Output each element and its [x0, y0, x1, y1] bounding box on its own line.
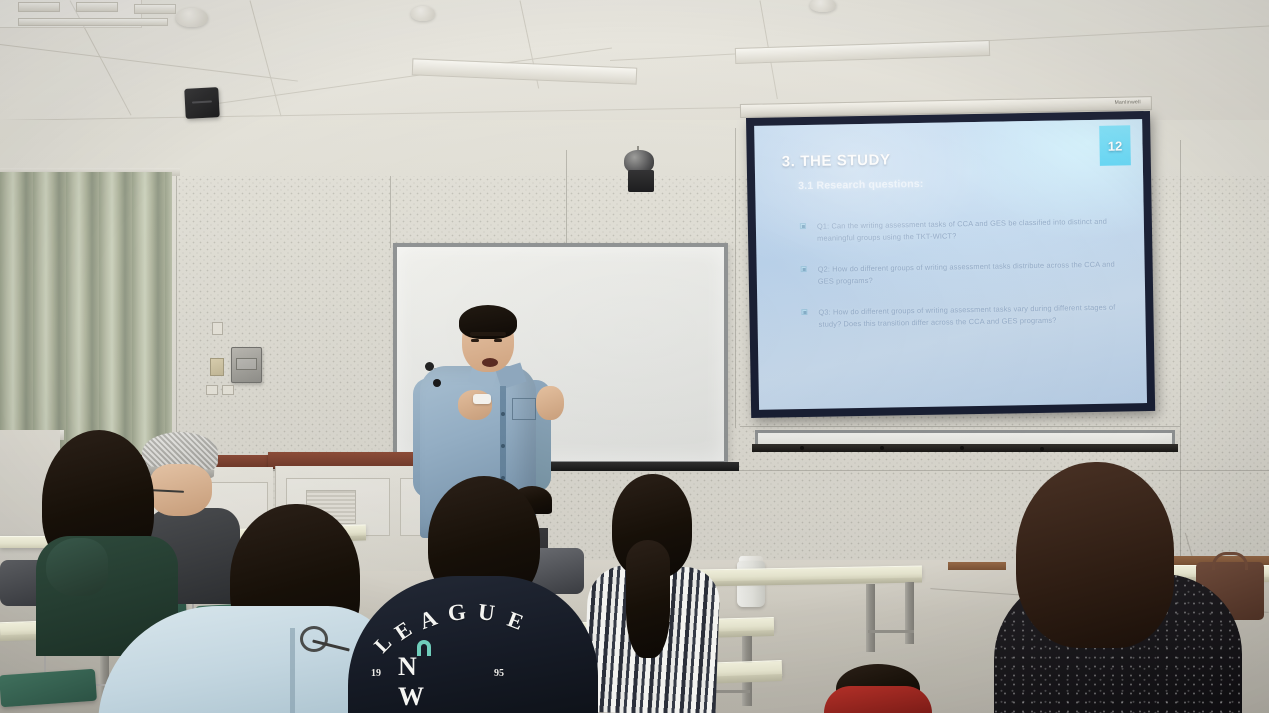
jacket-center-text: N W	[398, 652, 428, 712]
bag-handle	[1212, 552, 1248, 570]
baseboard	[948, 562, 1006, 570]
wall-speaker	[184, 87, 220, 119]
control-box-slot-icon	[236, 358, 257, 370]
checkbox-bullet-icon	[800, 223, 806, 229]
presenter-right-hand	[536, 386, 564, 420]
whiteboard-rail	[752, 444, 1178, 452]
presenter-eye	[471, 339, 479, 342]
lapel-microphone	[433, 379, 441, 387]
presenter-shirt-pocket	[512, 398, 536, 420]
wall-outlet-plate[interactable]	[210, 358, 224, 376]
rail-bolt	[1040, 447, 1044, 451]
shirt-button	[501, 412, 505, 416]
wall-panel-seam	[740, 426, 1180, 427]
ceiling-light	[76, 2, 118, 12]
ceiling-light	[18, 18, 168, 26]
slide-question-text: Q2: How do different groups of writing a…	[818, 260, 1115, 286]
slide-question-item: Q3: How do different groups of writing a…	[801, 301, 1125, 331]
slide-question-list: Q1: Can the writing assessment tasks of …	[800, 215, 1126, 350]
checkbox-bullet-icon	[801, 266, 807, 272]
wall-switch-plate[interactable]	[222, 385, 234, 395]
ceiling-smoke-detector	[810, 0, 836, 12]
jacket-arc-text: L E A G U E	[370, 596, 576, 656]
ceiling-light	[18, 2, 60, 12]
wall-panel-seam	[735, 128, 736, 428]
slide-subtitle: 3.1 Research questions:	[798, 178, 924, 192]
wall-panel-seam	[390, 176, 391, 248]
presentation-clicker[interactable]	[473, 394, 491, 404]
ceiling-smoke-detector	[411, 6, 435, 21]
rail-bolt	[800, 446, 804, 450]
wall-switch-plate[interactable]	[206, 385, 218, 395]
jacket-year-right: 95	[494, 668, 504, 679]
slide-title: 3. THE STUDY	[782, 151, 891, 170]
slide-question-item: Q2: How do different groups of writing a…	[801, 258, 1125, 288]
projection-screen-frame: 12 3. THE STUDY 3.1 Research questions: …	[746, 111, 1155, 418]
desk-leg	[905, 582, 914, 644]
slide-page-number: 12	[1108, 138, 1123, 153]
chair-back[interactable]	[0, 669, 97, 708]
wall-control-box[interactable]	[231, 347, 262, 383]
presenter-mouth	[482, 358, 498, 367]
eyeglass-lens	[300, 626, 328, 652]
desk-leg	[866, 584, 875, 652]
jacket-year-left: 19	[371, 668, 381, 679]
wall-panel-seam	[1180, 140, 1181, 560]
rail-bolt	[880, 446, 884, 450]
bottle-handle-loop	[417, 640, 431, 656]
ceiling-light	[134, 4, 176, 14]
ponytail	[626, 540, 670, 658]
slide-page-badge: 12	[1099, 125, 1131, 166]
jacket-seam	[290, 628, 295, 713]
speaker-grille-icon	[192, 100, 211, 103]
desk-rail	[868, 630, 914, 633]
slide-question-item: Q1: Can the writing assessment tasks of …	[800, 215, 1124, 245]
camera-mount	[628, 170, 654, 192]
projection-screen-surface: 12 3. THE STUDY 3.1 Research questions: …	[754, 119, 1147, 410]
checkbox-bullet-icon	[801, 309, 807, 315]
classroom-photo: Manlinwell 12 3. THE STUDY 3.1 Research …	[0, 0, 1269, 713]
hoodie-hood	[46, 538, 108, 596]
hair	[1016, 462, 1174, 648]
presenter-eye	[494, 339, 502, 342]
shirt-button	[501, 444, 505, 448]
wall-plate[interactable]	[212, 322, 223, 335]
slide-question-text: Q1: Can the writing assessment tasks of …	[817, 217, 1107, 243]
presenter-brow	[470, 332, 506, 336]
projector-brand-label: Manlinwell	[1115, 99, 1141, 106]
red-top	[824, 686, 932, 713]
slide-question-text: Q3: How do different groups of writing a…	[818, 303, 1115, 329]
ceiling-smoke-detector	[176, 8, 208, 27]
rail-bolt	[960, 446, 964, 450]
